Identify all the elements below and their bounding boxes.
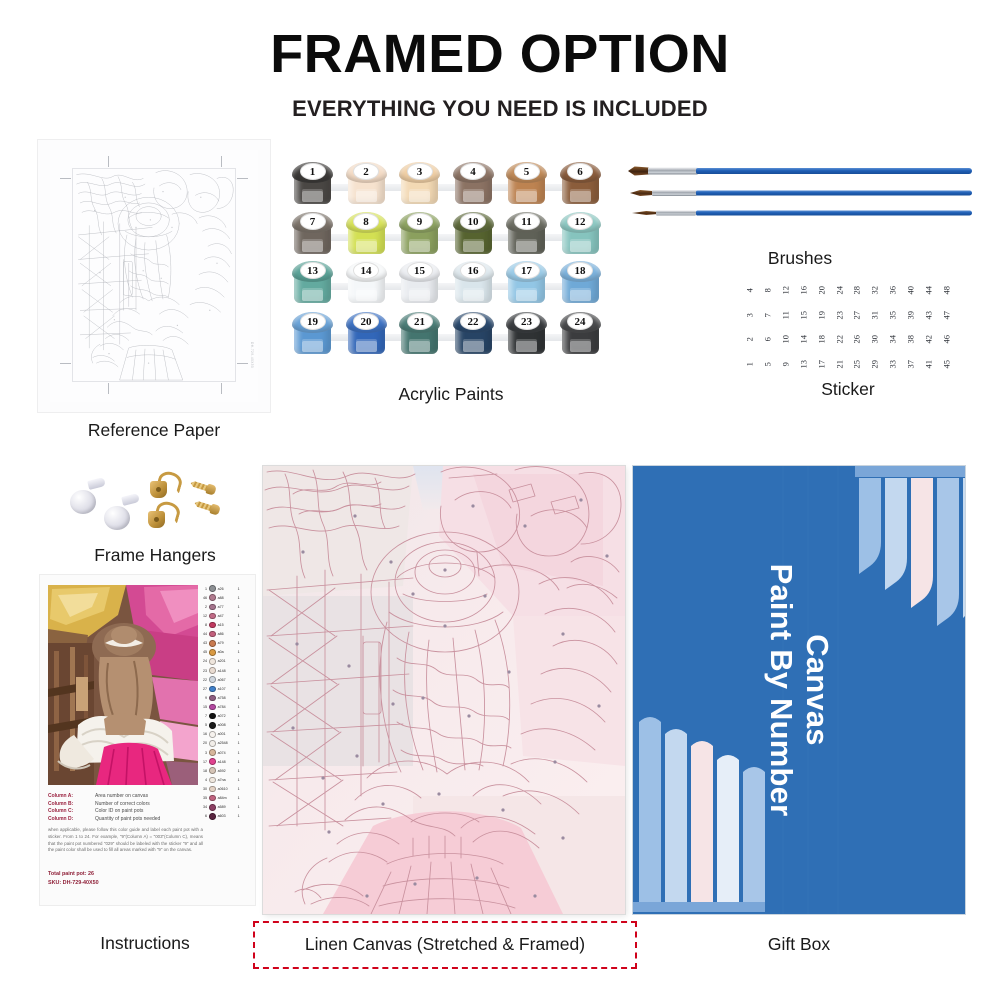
legend-row: 3a0741 xyxy=(199,749,249,756)
legend-color-id: a201 xyxy=(218,659,236,663)
legend-color-id: a0610 xyxy=(218,787,236,791)
reference-lineart xyxy=(72,168,236,382)
legend-row: 2a771 xyxy=(199,603,249,610)
paint-pot-number: 12 xyxy=(567,213,593,230)
gift-box-image: Canvas Paint By Number xyxy=(633,466,965,914)
paint-pot-14: 14 xyxy=(344,261,389,307)
caption-acrylic-paints: Acrylic Paints xyxy=(290,384,612,405)
legend-area-number: 23 xyxy=(199,669,207,673)
paint-pot-number: 1 xyxy=(300,163,326,180)
legend-quantity: 1 xyxy=(238,714,244,718)
sticker-number: 44 xyxy=(924,283,933,298)
acrylic-paints-image: 123456789101112131415161718192021222324 xyxy=(290,162,612,374)
legend-row: 18a5921 xyxy=(199,767,249,774)
paint-pots-layer: 123456789101112131415161718192021222324 xyxy=(290,162,612,374)
sticker-number: 39 xyxy=(906,307,915,322)
legend-color-id: a008 xyxy=(218,723,236,727)
sticker-column: 32313029 xyxy=(867,286,882,368)
legend-color-swatch xyxy=(209,722,216,729)
brush-bristle xyxy=(628,167,650,176)
legend-color-id: a2548 xyxy=(218,741,236,745)
column-key-line: Column A:Area number on canvas xyxy=(48,793,198,799)
legend-row: 12a471 xyxy=(199,612,249,619)
legend-quantity: 1 xyxy=(238,778,244,782)
crop-mark xyxy=(108,156,109,167)
sticker-column: 44434241 xyxy=(921,286,936,368)
legend-row: 9a7581 xyxy=(199,694,249,701)
column-value: Area number on canvas xyxy=(95,793,148,799)
anchor-disc xyxy=(104,506,130,530)
sticker-number: 2 xyxy=(745,332,754,347)
brush-ferrule xyxy=(652,190,697,196)
d-ring-plate xyxy=(148,511,165,528)
paint-pot-22: 22 xyxy=(451,312,496,358)
legend-color-id: a26 xyxy=(218,587,236,591)
gift-box-line2: Paint By Number xyxy=(763,564,799,817)
legend-quantity: 1 xyxy=(238,805,244,809)
paint-pot-17: 17 xyxy=(504,261,549,307)
legend-row: 30a06101 xyxy=(199,785,249,792)
paint-pot-9: 9 xyxy=(397,212,442,258)
sticker-number: 47 xyxy=(942,307,951,322)
sticker-number: 5 xyxy=(763,356,772,371)
legend-quantity: 1 xyxy=(238,769,244,773)
legend-color-id: a148 xyxy=(218,760,236,764)
paint-pot-number: 19 xyxy=(300,313,326,330)
legend-color-swatch xyxy=(209,786,216,793)
caption-sticker: Sticker xyxy=(742,379,954,400)
paint-pot-7: 7 xyxy=(290,212,335,258)
legend-row: 46a881 xyxy=(199,594,249,601)
caption-reference-paper: Reference Paper xyxy=(38,420,270,441)
brush-handle xyxy=(696,191,972,196)
brushes-image xyxy=(628,165,972,243)
legend-color-swatch xyxy=(209,585,216,592)
paint-pot-number: 14 xyxy=(353,262,379,279)
sticker-number: 38 xyxy=(906,332,915,347)
sticker-column: 24232221 xyxy=(832,286,847,368)
paint-pot-number: 4 xyxy=(460,163,486,180)
sku: SKU: DH-729-40X50 xyxy=(48,880,198,886)
legend-area-number: 3 xyxy=(199,751,207,755)
legend-color-swatch xyxy=(209,622,216,629)
sticker-column: 1211109 xyxy=(778,286,793,368)
legend-area-number: 44 xyxy=(199,632,207,636)
crop-mark xyxy=(237,363,248,364)
crop-mark xyxy=(237,178,248,179)
sticker-column: 20191817 xyxy=(814,286,829,368)
sticker-number: 8 xyxy=(763,283,772,298)
legend-color-swatch xyxy=(209,640,216,647)
legend-color-swatch xyxy=(209,604,216,611)
legend-quantity: 1 xyxy=(238,796,244,800)
sticker-number: 41 xyxy=(924,356,933,371)
legend-quantity: 1 xyxy=(238,751,244,755)
legend-row: 4a7na1 xyxy=(199,776,249,783)
paint-pot-number: 8 xyxy=(353,213,379,230)
legend-color-id: a758 xyxy=(218,696,236,700)
legend-area-number: 16 xyxy=(199,732,207,736)
legend-color-swatch xyxy=(209,813,216,820)
legend-color-id: a072 xyxy=(218,714,236,718)
instructions-column-key: Column A:Area number on canvasColumn B:N… xyxy=(48,793,198,823)
column-key-line: Column B:Number of correct colors xyxy=(48,801,198,807)
column-key: Column D: xyxy=(48,816,90,822)
legend-quantity: 1 xyxy=(238,678,244,682)
gift-box-text: Canvas Paint By Number xyxy=(763,564,835,817)
legend-area-number: 46 xyxy=(199,596,207,600)
screw xyxy=(193,498,221,516)
sticker-number: 46 xyxy=(942,332,951,347)
page-subtitle: EVERYTHING YOU NEED IS INCLUDED xyxy=(0,96,1000,122)
legend-row: 8a151 xyxy=(199,621,249,628)
paint-pot-number: 10 xyxy=(460,213,486,230)
legend-row: 15a7841 xyxy=(199,703,249,710)
legend-color-id: a603 xyxy=(218,814,236,818)
paint-pot-12: 12 xyxy=(558,212,603,258)
paint-pot-20: 20 xyxy=(344,312,389,358)
brush-handle xyxy=(696,211,972,216)
sticker-number: 35 xyxy=(889,307,898,322)
legend-area-number: 4 xyxy=(199,778,207,782)
legend-color-id: a15 xyxy=(218,623,236,627)
caption-linen-canvas: Linen Canvas (Stretched & Framed) xyxy=(253,934,637,955)
legend-area-number: 27 xyxy=(199,687,207,691)
sticker-number: 28 xyxy=(853,283,862,298)
instructions-preview-photo xyxy=(48,585,198,785)
legend-quantity: 1 xyxy=(238,659,244,663)
paint-pot-number: 18 xyxy=(567,262,593,279)
legend-area-number: 9 xyxy=(199,696,207,700)
paint-pot-3: 3 xyxy=(397,162,442,208)
sticker-number: 31 xyxy=(871,307,880,322)
paint-pot-10: 10 xyxy=(451,212,496,258)
screw-head xyxy=(209,503,221,515)
legend-color-swatch xyxy=(209,613,216,620)
legend-color-swatch xyxy=(209,695,216,702)
legend-quantity: 1 xyxy=(238,696,244,700)
paint-pot-number: 13 xyxy=(300,262,326,279)
paint-pot-number: 17 xyxy=(514,262,540,279)
sticker-column: 8765 xyxy=(760,286,775,368)
page-title: FRAMED OPTION xyxy=(0,26,1000,83)
legend-quantity: 1 xyxy=(238,587,244,591)
sticker-number: 7 xyxy=(763,307,772,322)
legend-quantity: 1 xyxy=(238,650,244,654)
brush-large xyxy=(628,165,972,177)
legend-quantity: 1 xyxy=(238,623,244,627)
legend-area-number: 22 xyxy=(199,678,207,682)
legend-row: 5a0081 xyxy=(199,722,249,729)
sticker-number: 3 xyxy=(745,307,754,322)
legend-color-id: a47 xyxy=(218,614,236,618)
sticker-number: 25 xyxy=(853,356,862,371)
crop-mark xyxy=(60,178,71,179)
legend-area-number: 34 xyxy=(199,805,207,809)
paint-pot-1: 1 xyxy=(290,162,335,208)
paint-pot-number: 15 xyxy=(407,262,433,279)
anchor-disc xyxy=(70,490,96,514)
paint-pot-number: 16 xyxy=(460,262,486,279)
sticker-number: 13 xyxy=(799,356,808,371)
crop-mark xyxy=(60,363,71,364)
column-value: Color ID on paint pots xyxy=(95,808,143,814)
legend-area-number: 6 xyxy=(199,814,207,818)
legend-quantity: 1 xyxy=(238,760,244,764)
paint-pot-number: 23 xyxy=(514,313,540,330)
legend-color-id: a784 xyxy=(218,705,236,709)
reference-side-code: DH-729-40X50 xyxy=(250,342,254,368)
legend-color-swatch xyxy=(209,713,216,720)
sticker-number: 9 xyxy=(781,356,790,371)
legend-row: 27a1071 xyxy=(199,685,249,692)
gift-box-line1: Canvas xyxy=(799,564,835,817)
paint-pot-number: 3 xyxy=(407,163,433,180)
sticker-number: 21 xyxy=(835,356,844,371)
legend-color-id: a067 xyxy=(218,678,236,682)
legend-quantity: 1 xyxy=(238,814,244,818)
paint-pot-21: 21 xyxy=(397,312,442,358)
column-key: Column A: xyxy=(48,793,90,799)
sticker-column: 4321 xyxy=(742,286,757,368)
sticker-number: 12 xyxy=(781,283,790,298)
legend-row: 22a0671 xyxy=(199,676,249,683)
linen-canvas-image xyxy=(263,466,625,914)
column-key-line: Column D:Quantity of paint pots needed xyxy=(48,816,198,822)
crop-mark xyxy=(108,383,109,394)
sticker-number: 40 xyxy=(906,283,915,298)
legend-color-id: a001 xyxy=(218,732,236,736)
legend-area-number: 18 xyxy=(199,769,207,773)
sticker-number: 48 xyxy=(942,283,951,298)
legend-area-number: 45 xyxy=(199,650,207,654)
legend-row: 43a791 xyxy=(199,640,249,647)
paint-pot-16: 16 xyxy=(451,261,496,307)
instructions-note: when applicable, please follow this colo… xyxy=(48,827,203,854)
legend-quantity: 1 xyxy=(238,632,244,636)
sticker-number: 36 xyxy=(889,283,898,298)
legend-quantity: 1 xyxy=(238,596,244,600)
legend-color-id: a148 xyxy=(218,669,236,673)
legend-quantity: 1 xyxy=(238,669,244,673)
legend-row: 34a5891 xyxy=(199,804,249,811)
legend-row: 16a0011 xyxy=(199,731,249,738)
legend-area-number: 12 xyxy=(199,614,207,618)
sticker-number: 37 xyxy=(906,356,915,371)
paint-pot-number: 5 xyxy=(514,163,540,180)
legend-color-swatch xyxy=(209,631,216,638)
screw xyxy=(189,478,217,496)
paint-pot-number: 22 xyxy=(460,313,486,330)
sticker-number: 34 xyxy=(889,332,898,347)
legend-row: 17a1481 xyxy=(199,758,249,765)
paint-pot-8: 8 xyxy=(344,212,389,258)
legend-color-id: a88 xyxy=(218,596,236,600)
legend-color-swatch xyxy=(209,594,216,601)
legend-color-swatch xyxy=(209,667,216,674)
legend-color-swatch xyxy=(209,649,216,656)
legend-color-swatch xyxy=(209,758,216,765)
legend-color-id: a589 xyxy=(218,805,236,809)
legend-row: 6a6031 xyxy=(199,813,249,820)
sticker-number: 24 xyxy=(835,283,844,298)
brush-ferrule xyxy=(648,168,698,175)
sticker-column: 40393837 xyxy=(903,286,918,368)
sticker-number: 27 xyxy=(853,307,862,322)
legend-color-swatch xyxy=(209,804,216,811)
sticker-number: 15 xyxy=(799,307,808,322)
paint-pot-11: 11 xyxy=(504,212,549,258)
paint-pot-number: 7 xyxy=(300,213,326,230)
brush-ferrule xyxy=(656,211,696,216)
paint-pot-19: 19 xyxy=(290,312,335,358)
legend-area-number: 15 xyxy=(199,705,207,709)
legend-area-number: 24 xyxy=(199,659,207,663)
screw-head xyxy=(205,483,217,495)
sticker-number: 20 xyxy=(817,283,826,298)
product-infographic: FRAMED OPTION EVERYTHING YOU NEED IS INC… xyxy=(0,0,1000,1000)
paint-pot-number: 6 xyxy=(567,163,593,180)
paint-pot-15: 15 xyxy=(397,261,442,307)
legend-color-swatch xyxy=(209,767,216,774)
header: FRAMED OPTION EVERYTHING YOU NEED IS INC… xyxy=(0,26,1000,122)
legend-color-id: a79 xyxy=(218,641,236,645)
frame-hangers-image xyxy=(62,468,252,540)
legend-quantity: 1 xyxy=(238,705,244,709)
caption-instructions: Instructions xyxy=(30,933,260,954)
sticker-number: 11 xyxy=(781,307,790,322)
paint-pot-6: 6 xyxy=(558,162,603,208)
legend-color-id: a107 xyxy=(218,687,236,691)
sticker-column: 28272625 xyxy=(849,286,864,368)
sticker-number: 30 xyxy=(871,332,880,347)
legend-color-id: a0a xyxy=(218,650,236,654)
legend-quantity: 1 xyxy=(238,605,244,609)
legend-area-number: 20 xyxy=(199,741,207,745)
paint-pot-5: 5 xyxy=(504,162,549,208)
paint-pot-number: 21 xyxy=(407,313,433,330)
sticker-number-grid: 4321876512111091615141320191817242322212… xyxy=(742,286,954,368)
brush-bristle xyxy=(630,190,654,196)
caption-gift-box: Gift Box xyxy=(633,934,965,955)
sticker-column: 36353433 xyxy=(885,286,900,368)
caption-brushes: Brushes xyxy=(628,248,972,269)
brush-handle xyxy=(696,168,972,174)
legend-color-swatch xyxy=(209,731,216,738)
brush-bristle xyxy=(632,211,658,215)
legend-area-number: 7 xyxy=(199,714,207,718)
legend-area-number: 43 xyxy=(199,641,207,645)
legend-color-id: a86 xyxy=(218,632,236,636)
paint-pot-18: 18 xyxy=(558,261,603,307)
sticker-number: 10 xyxy=(781,332,790,347)
legend-color-id: a592 xyxy=(218,769,236,773)
legend-color-swatch xyxy=(209,704,216,711)
sticker-number: 14 xyxy=(799,332,808,347)
caption-frame-hangers: Frame Hangers xyxy=(40,545,270,566)
legend-area-number: 1 xyxy=(199,587,207,591)
anchor-pin xyxy=(121,493,140,506)
anchor-pin xyxy=(87,477,106,490)
paint-pot-number: 24 xyxy=(567,313,593,330)
instructions-sheet-image: 1a26146a8812a77112a4718a15144a86143a7914… xyxy=(40,575,255,905)
legend-row: 24a2011 xyxy=(199,658,249,665)
sticker-number: 22 xyxy=(835,332,844,347)
legend-row: 1a261 xyxy=(199,585,249,592)
column-value: Quantity of paint pots needed xyxy=(95,816,160,822)
legend-row: 35a84m1 xyxy=(199,795,249,802)
legend-color-swatch xyxy=(209,749,216,756)
sticker-number: 4 xyxy=(745,283,754,298)
brush-small xyxy=(628,207,972,219)
legend-color-swatch xyxy=(209,740,216,747)
legend-quantity: 1 xyxy=(238,723,244,727)
sticker-number: 16 xyxy=(799,283,808,298)
sticker-number: 32 xyxy=(871,283,880,298)
sticker-sheet-image: 4321876512111091615141320191817242322212… xyxy=(742,286,954,368)
legend-quantity: 1 xyxy=(238,614,244,618)
sticker-number: 26 xyxy=(853,332,862,347)
sticker-number: 43 xyxy=(924,307,933,322)
column-key: Column B: xyxy=(48,801,90,807)
d-ring-plate xyxy=(150,481,167,498)
legend-row: 20a25481 xyxy=(199,740,249,747)
legend-area-number: 17 xyxy=(199,760,207,764)
reference-paper-image: DH-729-40X50 xyxy=(38,140,270,412)
legend-color-swatch xyxy=(209,686,216,693)
crop-mark xyxy=(221,156,222,167)
paint-pot-4: 4 xyxy=(451,162,496,208)
paint-pot-number: 9 xyxy=(407,213,433,230)
legend-area-number: 30 xyxy=(199,787,207,791)
legend-quantity: 1 xyxy=(238,732,244,736)
instructions-color-legend: 1a26146a8812a77112a4718a15144a86143a7914… xyxy=(199,585,249,820)
legend-area-number: 35 xyxy=(199,796,207,800)
legend-row: 7a0721 xyxy=(199,713,249,720)
column-value: Number of correct colors xyxy=(95,801,150,807)
legend-quantity: 1 xyxy=(238,687,244,691)
legend-color-id: a7na xyxy=(218,778,236,782)
legend-row: 44a861 xyxy=(199,631,249,638)
legend-area-number: 5 xyxy=(199,723,207,727)
instructions-totals: Total paint pot: 26 SKU: DH-729-40X50 xyxy=(48,871,198,889)
sticker-number: 1 xyxy=(745,356,754,371)
legend-color-id: a77 xyxy=(218,605,236,609)
sticker-number: 33 xyxy=(889,356,898,371)
paint-pot-number: 2 xyxy=(353,163,379,180)
legend-color-swatch xyxy=(209,777,216,784)
legend-row: 45a0a1 xyxy=(199,649,249,656)
column-key: Column C: xyxy=(48,808,90,814)
legend-row: 23a1481 xyxy=(199,667,249,674)
sticker-number: 23 xyxy=(835,307,844,322)
paint-pot-23: 23 xyxy=(504,312,549,358)
sticker-number: 29 xyxy=(871,356,880,371)
crop-mark xyxy=(221,383,222,394)
sticker-number: 19 xyxy=(817,307,826,322)
column-key-line: Column C:Color ID on paint pots xyxy=(48,808,198,814)
legend-color-id: a074 xyxy=(218,751,236,755)
paint-pot-13: 13 xyxy=(290,261,335,307)
sticker-number: 45 xyxy=(942,356,951,371)
legend-area-number: 2 xyxy=(199,605,207,609)
sticker-number: 18 xyxy=(817,332,826,347)
d-ring-hanger xyxy=(148,502,180,532)
paint-pot-number: 20 xyxy=(353,313,379,330)
sticker-column: 16151413 xyxy=(796,286,811,368)
legend-quantity: 1 xyxy=(238,741,244,745)
paint-pot-2: 2 xyxy=(344,162,389,208)
